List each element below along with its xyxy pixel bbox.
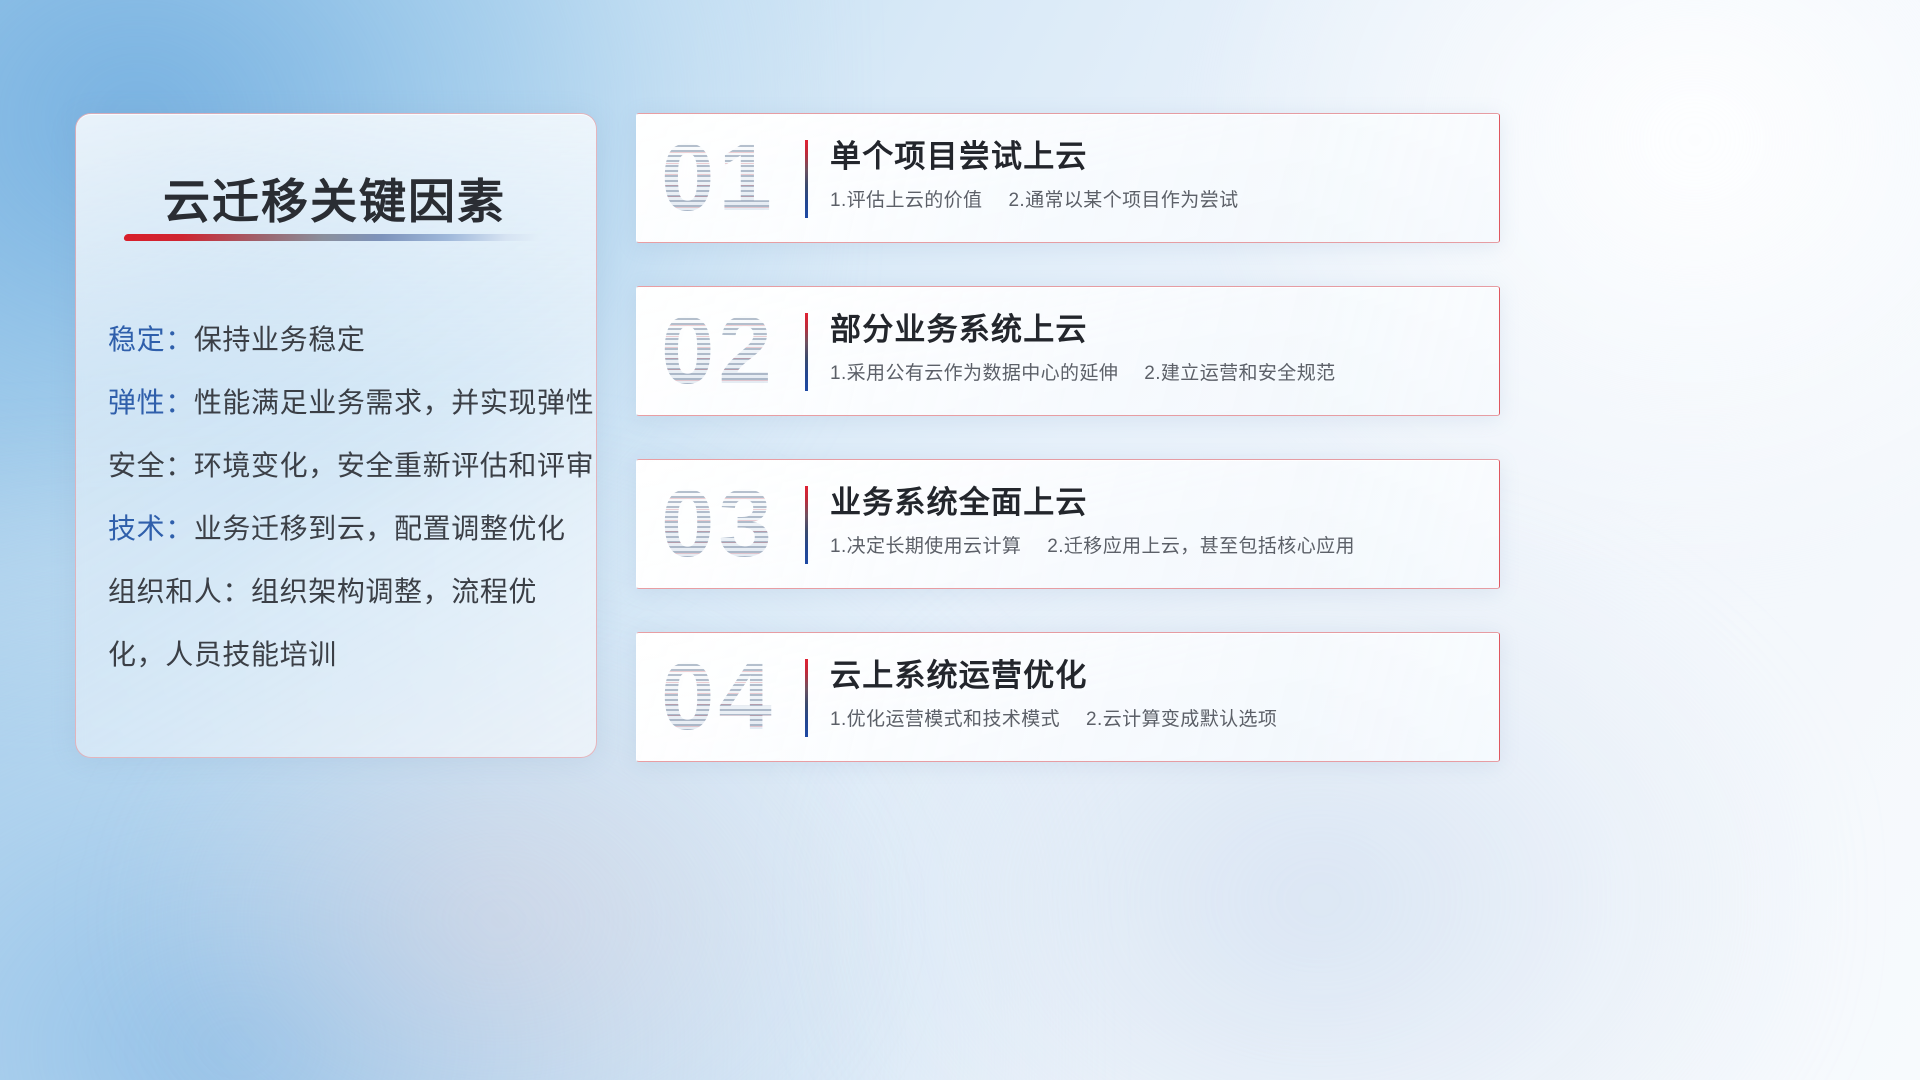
step-point-2: 2.迁移应用上云，甚至包括核心应用 — [1047, 536, 1355, 557]
step-title: 业务系统全面上云 — [830, 484, 1481, 523]
list-item: 组织和人：组织架构调整，流程优化，人员技能培训 — [108, 560, 578, 686]
list-item-value: 业务迁移到云，配置调整优化 — [194, 513, 566, 544]
key-factors-panel: 云迁移关键因素 稳定：保持业务稳定 弹性：性能满足业务需求，并实现弹性 安全：环… — [75, 113, 597, 758]
step-number-ghost: 04 — [661, 649, 776, 745]
migration-steps-list: 01 01 单个项目尝试上云 1.评估上云的价值2.通常以某个项目作为尝试 02… — [636, 113, 1500, 762]
list-item-value: 环境变化，安全重新评估和评审 — [194, 450, 594, 481]
title-underline-rule — [123, 234, 539, 241]
list-item-key: 技术： — [108, 513, 194, 544]
panel-title: 云迁移关键因素 — [163, 163, 506, 232]
list-item-key: 稳定： — [108, 324, 194, 355]
step-text-block: 云上系统运营优化 1.优化运营模式和技术模式2.云计算变成默认选项 — [830, 657, 1481, 732]
step-description: 1.评估上云的价值2.通常以某个项目作为尝试 — [830, 189, 1481, 214]
list-item: 弹性：性能满足业务需求，并实现弹性 — [108, 371, 578, 434]
list-item-key: 安全： — [108, 450, 194, 481]
step-text-block: 部分业务系统上云 1.采用公有云作为数据中心的延伸2.建立运营和安全规范 — [830, 311, 1481, 386]
step-number-ghost: 01 — [661, 130, 776, 226]
list-item-key: 弹性： — [108, 387, 194, 418]
step-card[interactable]: 04 04 云上系统运营优化 1.优化运营模式和技术模式2.云计算变成默认选项 — [636, 632, 1500, 762]
step-point-2: 2.通常以某个项目作为尝试 — [1008, 190, 1238, 211]
step-accent-bar — [805, 140, 808, 218]
step-number-ghost: 02 — [661, 303, 776, 399]
list-item: 技术：业务迁移到云，配置调整优化 — [108, 497, 578, 560]
step-point-1: 1.优化运营模式和技术模式 — [830, 709, 1060, 730]
step-title: 单个项目尝试上云 — [830, 138, 1481, 177]
step-accent-bar — [805, 659, 808, 737]
key-factors-list: 稳定：保持业务稳定 弹性：性能满足业务需求，并实现弹性 安全：环境变化，安全重新… — [108, 308, 578, 686]
step-point-1: 1.决定长期使用云计算 — [830, 536, 1021, 557]
step-text-block: 业务系统全面上云 1.决定长期使用云计算2.迁移应用上云，甚至包括核心应用 — [830, 484, 1481, 559]
step-text-block: 单个项目尝试上云 1.评估上云的价值2.通常以某个项目作为尝试 — [830, 138, 1481, 213]
step-point-2: 2.建立运营和安全规范 — [1144, 363, 1335, 384]
step-card[interactable]: 02 02 部分业务系统上云 1.采用公有云作为数据中心的延伸2.建立运营和安全… — [636, 286, 1500, 416]
step-number-ghost: 03 — [661, 476, 776, 572]
step-description: 1.决定长期使用云计算2.迁移应用上云，甚至包括核心应用 — [830, 535, 1481, 560]
list-item-value: 性能满足业务需求，并实现弹性 — [194, 387, 594, 418]
list-item-value: 保持业务稳定 — [194, 324, 366, 355]
list-item: 安全：环境变化，安全重新评估和评审 — [108, 434, 578, 497]
step-card[interactable]: 03 03 业务系统全面上云 1.决定长期使用云计算2.迁移应用上云，甚至包括核… — [636, 459, 1500, 589]
step-description: 1.采用公有云作为数据中心的延伸2.建立运营和安全规范 — [830, 362, 1481, 387]
step-accent-bar — [805, 313, 808, 391]
step-description: 1.优化运营模式和技术模式2.云计算变成默认选项 — [830, 708, 1481, 733]
step-point-1: 1.采用公有云作为数据中心的延伸 — [830, 363, 1118, 384]
step-accent-bar — [805, 486, 808, 564]
list-item-key: 组织和人： — [108, 576, 251, 607]
list-item: 稳定：保持业务稳定 — [108, 308, 578, 371]
step-point-2: 2.云计算变成默认选项 — [1086, 709, 1277, 730]
slide-canvas: 云迁移关键因素 稳定：保持业务稳定 弹性：性能满足业务需求，并实现弹性 安全：环… — [0, 0, 1920, 1080]
step-title: 部分业务系统上云 — [830, 311, 1481, 350]
step-title: 云上系统运营优化 — [830, 657, 1481, 696]
step-card[interactable]: 01 01 单个项目尝试上云 1.评估上云的价值2.通常以某个项目作为尝试 — [636, 113, 1500, 243]
step-point-1: 1.评估上云的价值 — [830, 190, 982, 211]
